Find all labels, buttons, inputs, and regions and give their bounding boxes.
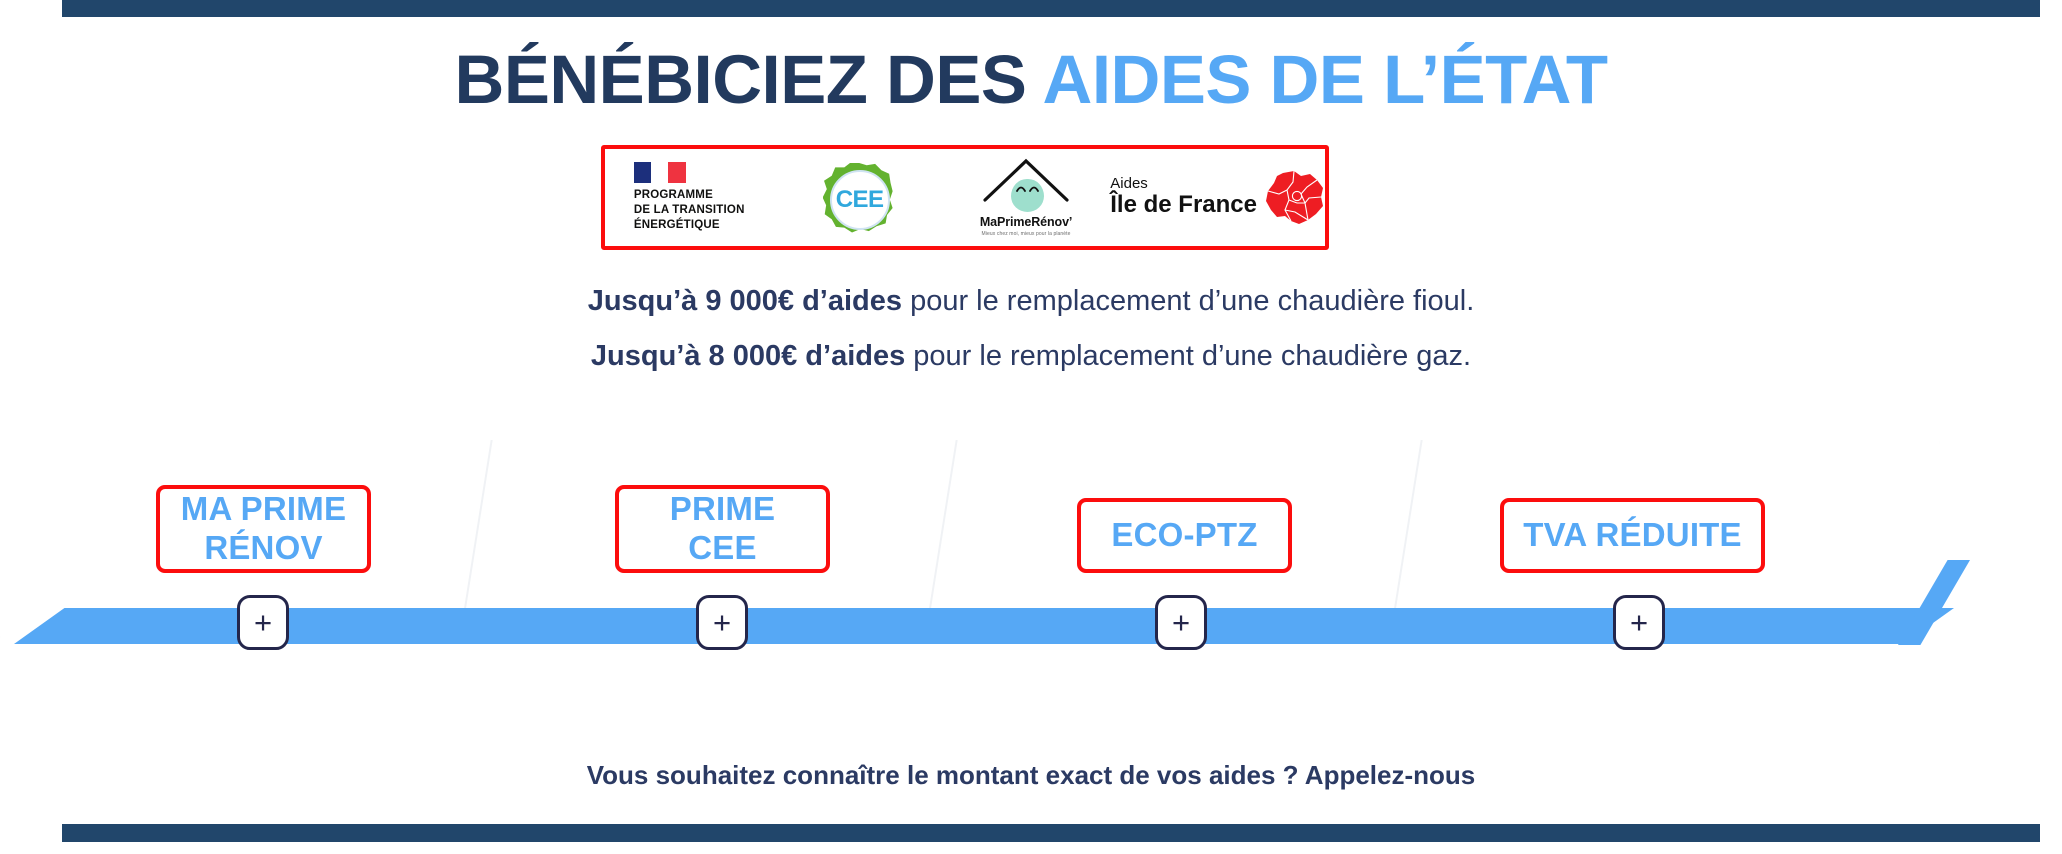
idf-label-aides: Aides [1110,176,1148,193]
logo-cell-programme: PROGRAMME DE LA TRANSITION ÉNERGÉTIQUE [605,149,773,246]
partner-logos-box: PROGRAMME DE LA TRANSITION ÉNERGÉTIQUE C… [601,145,1329,250]
programme-logo-line3: ÉNERGÉTIQUE [634,218,745,233]
aid-badge-prime-cee-label: PRIME CEE [670,490,776,568]
page-title: BÉNÉBICIEZ DES AIDES DE L’ÉTAT [0,44,2062,116]
programme-transition-energetique-logo: PROGRAMME DE LA TRANSITION ÉNERGÉTIQUE [634,162,745,232]
call-to-action-text: Vous souhaitez connaître le montant exac… [0,760,2062,791]
programme-logo-text: PROGRAMME DE LA TRANSITION ÉNERGÉTIQUE [634,188,745,232]
aid-badge-ma-prime-renov[interactable]: MA PRIME RÉNOV [156,485,371,573]
aid-badge-ma-prime-renov-line1: MA PRIME [181,490,346,527]
aid-badge-tva-reduite[interactable]: TVA RÉDUITE [1500,498,1765,573]
programme-logo-line2: DE LA TRANSITION [634,203,745,218]
aid-badge-prime-cee-line2: CEE [688,529,756,566]
aides-ile-de-france-logo: Aides Île de France [1110,170,1325,226]
page-title-dark-part: BÉNÉBICIEZ DES [454,41,1042,118]
aid-amount-gaz-rest: pour le remplacement d’une chaudière gaz… [905,340,1471,372]
aid-badge-prime-cee-line1: PRIME [670,490,776,527]
smiley-eyes-icon [1016,184,1039,193]
aid-badge-eco-ptz-label: ECO-PTZ [1111,516,1257,555]
logo-cell-cee: CEE [773,149,941,246]
maprimerenov-logo: MaPrimeRénov’ Mieux chez moi, mieux pour… [980,158,1072,237]
expand-button-eco-ptz[interactable]: + [1155,595,1207,650]
aid-amount-line-gaz: Jusqu’à 8 000€ d’aides pour le remplacem… [0,340,2062,373]
cee-logo-label: CEE [836,186,884,214]
aid-badge-ma-prime-renov-line2: RÉNOV [204,529,322,566]
page-title-light-part: AIDES DE L’ÉTAT [1043,41,1608,118]
expand-button-prime-cee[interactable]: + [696,595,748,650]
aid-badge-eco-ptz[interactable]: ECO-PTZ [1077,498,1292,573]
maprimerenov-label: MaPrimeRénov’ [980,215,1072,229]
expand-button-ma-prime-renov[interactable]: + [237,595,289,650]
top-divider-bar [62,0,2040,17]
aid-amount-fioul-bold: Jusqu’à 9 000€ d’aides [588,285,902,317]
idf-text-block: Aides Île de France [1110,176,1257,219]
plus-icon: + [1630,607,1648,638]
cee-inner-circle: CEE [830,170,890,230]
idf-label-region: Île de France [1110,192,1257,219]
plus-icon: + [254,607,272,638]
aid-amount-gaz-bold: Jusqu’à 8 000€ d’aides [591,340,905,372]
aid-badge-prime-cee[interactable]: PRIME CEE [615,485,830,573]
aid-badge-ma-prime-renov-label: MA PRIME RÉNOV [181,490,346,568]
aid-badge-tva-reduite-label: TVA RÉDUITE [1523,516,1742,555]
plus-icon: + [1172,607,1190,638]
ile-de-france-map-icon [1263,170,1325,226]
logo-cell-maprimerenov: MaPrimeRénov’ Mieux chez moi, mieux pour… [942,149,1110,246]
french-flag-icon [634,162,686,183]
expand-button-tva-reduite[interactable]: + [1613,595,1665,650]
maprimerenov-tagline: Mieux chez moi, mieux pour la planète [982,231,1071,237]
aid-amount-line-fioul: Jusqu’à 9 000€ d’aides pour le remplacem… [0,285,2062,318]
cee-logo: CEE [823,163,893,233]
plus-icon: + [713,607,731,638]
logo-cell-iledefrance: Aides Île de France [1110,149,1325,246]
bottom-divider-bar [62,824,2040,842]
aid-amount-fioul-rest: pour le remplacement d’une chaudière fio… [902,285,1474,317]
programme-logo-line1: PROGRAMME [634,188,745,203]
maprimerenov-mark-icon [983,158,1069,212]
